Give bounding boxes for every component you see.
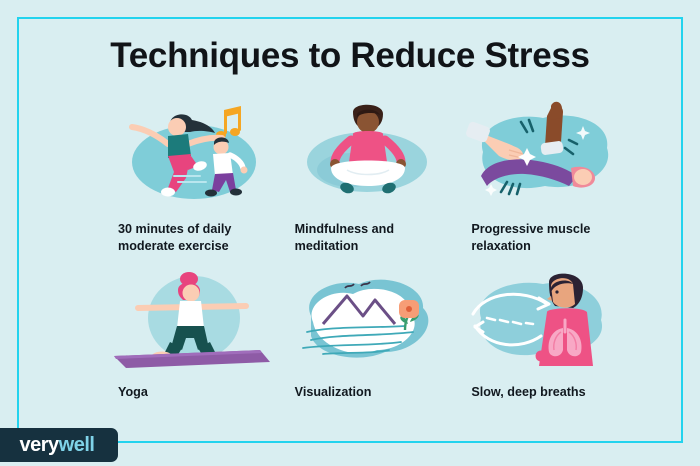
- logo-text-well: well: [59, 434, 95, 457]
- techniques-grid: 30 minutes of daily moderate exercise: [106, 100, 626, 420]
- breathing-lungs-person-icon: [465, 270, 625, 370]
- technique-card-exercise: 30 minutes of daily moderate exercise: [106, 100, 273, 270]
- page-title: Techniques to Reduce Stress: [0, 36, 700, 76]
- technique-card-yoga: Yoga: [106, 270, 273, 420]
- technique-card-visualization: Visualization: [283, 270, 450, 420]
- technique-label-pmr: Progressive muscle relaxation: [471, 221, 616, 255]
- verywell-logo[interactable]: verywell: [0, 428, 118, 462]
- flexing-limbs-icon: [465, 100, 625, 215]
- technique-label-yoga: Yoga: [118, 384, 263, 401]
- technique-label-mindfulness: Mindfulness and meditation: [295, 221, 440, 255]
- technique-label-visualization: Visualization: [295, 384, 440, 401]
- running-people-icon: [112, 100, 272, 215]
- technique-card-breathing: Slow, deep breaths: [459, 270, 626, 420]
- technique-card-pmr: Progressive muscle relaxation: [459, 100, 626, 270]
- logo-text-very: very: [20, 434, 59, 457]
- technique-card-mindfulness: Mindfulness and meditation: [283, 100, 450, 270]
- infographic-poster: Techniques to Reduce Stress: [0, 0, 700, 466]
- technique-label-breathing: Slow, deep breaths: [471, 384, 616, 401]
- meditating-person-icon: [289, 100, 449, 215]
- mountain-cloud-scene-icon: [289, 270, 449, 370]
- technique-label-exercise: 30 minutes of daily moderate exercise: [118, 221, 263, 255]
- yoga-warrior-pose-icon: [112, 270, 272, 370]
